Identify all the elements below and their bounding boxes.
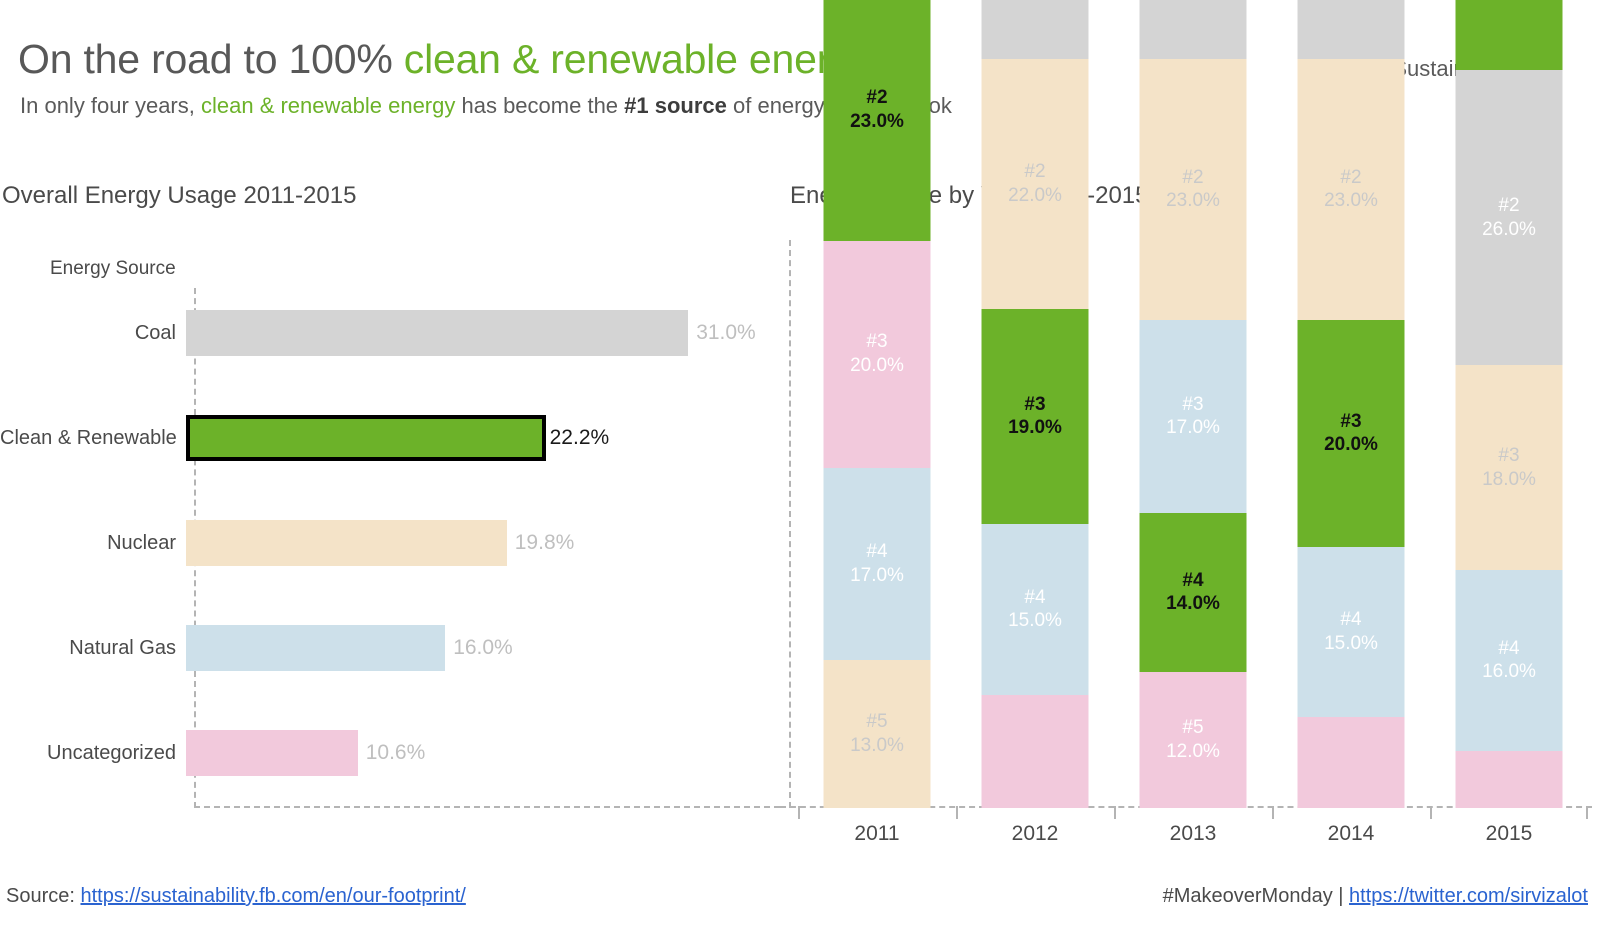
x-axis-tick xyxy=(798,806,800,819)
x-axis-tick xyxy=(1430,806,1432,819)
segment-rank-label: #2 xyxy=(1498,194,1519,218)
x-axis-label: 2012 xyxy=(956,822,1114,846)
segment-rank-label: #2 xyxy=(866,86,887,110)
page-subtitle: In only four years, clean & renewable en… xyxy=(20,93,952,119)
stack-segment[interactable] xyxy=(1298,717,1405,808)
stack-segment[interactable]: #134.0% xyxy=(1298,0,1405,59)
segment-rank-label: #4 xyxy=(1182,569,1203,593)
segment-rank-label: #3 xyxy=(866,330,887,354)
stacked-column[interactable]: #134.0%#223.0%#320.0%#415.0%2014 xyxy=(1272,240,1430,808)
bar-value-label: 22.2% xyxy=(546,426,610,450)
right-chart-columns: #127.0%#223.0%#320.0%#417.0%#513.0%2011#… xyxy=(798,240,1588,808)
segment-value-label: 20.0% xyxy=(1324,433,1378,457)
segment-rank-label: #2 xyxy=(1182,166,1203,190)
stacked-column-bar: #127.0%#223.0%#320.0%#417.0%#513.0% xyxy=(824,0,931,808)
bar-row[interactable]: Coal31.0% xyxy=(0,310,780,356)
stacked-column[interactable]: #127.0%#223.0%#320.0%#417.0%#513.0%2011 xyxy=(798,240,956,808)
subtitle-segment-3: has become the xyxy=(455,93,624,118)
segment-rank-label: #3 xyxy=(1340,410,1361,434)
stack-segment[interactable]: #223.0% xyxy=(824,0,931,241)
bar-row[interactable]: Clean & Renewable22.2% xyxy=(0,415,780,461)
bar-category-label: Nuclear xyxy=(0,532,186,555)
stacked-column-bar: #135.0%#226.0%#318.0%#416.0% xyxy=(1456,0,1563,808)
title-text-plain: On the road to 100% xyxy=(18,36,404,82)
bar-value-label: 31.0% xyxy=(688,321,756,345)
bar-value-label: 10.6% xyxy=(358,741,426,765)
bar-value-label: 16.0% xyxy=(445,636,513,660)
stack-segment[interactable]: #226.0% xyxy=(1456,70,1563,365)
bar-fill[interactable] xyxy=(186,730,358,776)
bar-track: 16.0% xyxy=(186,625,513,671)
bar-track: 19.8% xyxy=(186,520,574,566)
segment-rank-label: #2 xyxy=(1340,166,1361,190)
overall-energy-usage-bar-chart: Energy Source Coal31.0%Clean & Renewable… xyxy=(0,240,780,815)
bar-row[interactable]: Natural Gas16.0% xyxy=(0,625,780,671)
segment-rank-label: #4 xyxy=(1498,637,1519,661)
source-url-link[interactable]: https://sustainability.fb.com/en/our-foo… xyxy=(80,885,465,907)
segment-value-label: 23.0% xyxy=(850,110,904,134)
segment-value-label: 26.0% xyxy=(1482,218,1536,242)
segment-rank-label: #3 xyxy=(1024,393,1045,417)
bar-fill[interactable] xyxy=(186,625,445,671)
segment-rank-label: #2 xyxy=(1024,160,1045,184)
author-credit: #MakeoverMonday | https://twitter.com/si… xyxy=(1163,885,1588,908)
stack-segment[interactable]: #512.0% xyxy=(1140,672,1247,808)
source-credit: Source: https://sustainability.fb.com/en… xyxy=(6,885,466,908)
stack-segment[interactable]: #223.0% xyxy=(1140,59,1247,320)
subtitle-segment-accent: clean & renewable energy xyxy=(201,93,455,118)
stack-segment[interactable]: #417.0% xyxy=(824,468,931,661)
bar-value-label: 19.8% xyxy=(507,531,575,555)
bar-track: 22.2% xyxy=(186,415,609,461)
bar-category-label: Uncategorized xyxy=(0,742,186,765)
stacked-column[interactable]: #134.0%#223.0%#317.0%#414.0%#512.0%2013 xyxy=(1114,240,1272,808)
bar-fill[interactable] xyxy=(186,310,688,356)
segment-value-label: 13.0% xyxy=(850,734,904,758)
segment-value-label: 22.0% xyxy=(1008,184,1062,208)
subtitle-segment-1: In only four years, xyxy=(20,93,201,118)
bar-fill[interactable] xyxy=(186,415,546,461)
stack-segment[interactable]: #223.0% xyxy=(1298,59,1405,320)
left-chart-title: Overall Energy Usage 2011-2015 xyxy=(2,182,356,210)
stack-segment[interactable] xyxy=(982,695,1089,809)
x-axis-tick xyxy=(1272,806,1274,819)
page-title: On the road to 100% clean & renewable en… xyxy=(18,36,873,83)
segment-rank-label: #4 xyxy=(866,540,887,564)
stacked-column[interactable]: #135.0%#226.0%#318.0%#416.0%2015 xyxy=(1430,240,1588,808)
bar-category-label: Coal xyxy=(0,322,186,345)
energy-usage-by-year-stacked-chart: #127.0%#223.0%#320.0%#417.0%#513.0%2011#… xyxy=(780,240,1600,840)
stack-segment[interactable]: #318.0% xyxy=(1456,365,1563,569)
segment-rank-label: #5 xyxy=(866,710,887,734)
bar-category-label: Natural Gas xyxy=(0,637,186,660)
x-axis-tick xyxy=(956,806,958,819)
stack-segment[interactable]: #222.0% xyxy=(982,59,1089,309)
segment-value-label: 12.0% xyxy=(1166,740,1220,764)
bar-track: 31.0% xyxy=(186,310,756,356)
segment-rank-label: #3 xyxy=(1498,444,1519,468)
bar-row[interactable]: Nuclear19.8% xyxy=(0,520,780,566)
segment-value-label: 16.0% xyxy=(1482,660,1536,684)
segment-value-label: 18.0% xyxy=(1482,468,1536,492)
source-prefix-label: Source: xyxy=(6,885,80,907)
subtitle-segment-bold: #1 source xyxy=(624,93,727,118)
segment-value-label: 17.0% xyxy=(1166,416,1220,440)
segment-rank-label: #5 xyxy=(1182,716,1203,740)
stack-segment[interactable]: #134.0% xyxy=(1140,0,1247,59)
stack-segment[interactable]: #320.0% xyxy=(824,241,931,468)
stack-segment[interactable]: #415.0% xyxy=(1298,547,1405,717)
stack-segment[interactable]: #415.0% xyxy=(982,524,1089,694)
segment-value-label: 23.0% xyxy=(1166,189,1220,213)
stack-segment[interactable]: #317.0% xyxy=(1140,320,1247,513)
stack-segment[interactable]: #320.0% xyxy=(1298,320,1405,547)
stack-segment[interactable]: #135.0% xyxy=(1456,0,1563,70)
stack-segment[interactable]: #319.0% xyxy=(982,309,1089,525)
segment-rank-label: #4 xyxy=(1340,608,1361,632)
stacked-column-bar: #134.0%#222.0%#319.0%#415.0% xyxy=(982,0,1089,808)
segment-value-label: 19.0% xyxy=(1008,416,1062,440)
bar-row[interactable]: Uncategorized10.6% xyxy=(0,730,780,776)
stacked-column[interactable]: #134.0%#222.0%#319.0%#415.0%2012 xyxy=(956,240,1114,808)
hashtag-label: #MakeoverMonday | xyxy=(1163,885,1349,907)
segment-value-label: 15.0% xyxy=(1008,609,1062,633)
segment-value-label: 14.0% xyxy=(1166,592,1220,616)
stack-segment[interactable] xyxy=(1456,751,1563,808)
bar-fill[interactable] xyxy=(186,520,507,566)
segment-value-label: 15.0% xyxy=(1324,632,1378,656)
stack-segment[interactable]: #416.0% xyxy=(1456,570,1563,752)
stack-segment[interactable]: #414.0% xyxy=(1140,513,1247,672)
right-chart-y-axis xyxy=(789,240,791,808)
left-axis-title: Energy Source xyxy=(50,258,176,280)
bar-category-label: Clean & Renewable xyxy=(0,427,186,450)
stacked-column-bar: #134.0%#223.0%#320.0%#415.0% xyxy=(1298,0,1405,808)
x-axis-tick xyxy=(1114,806,1116,819)
x-axis-label: 2014 xyxy=(1272,822,1430,846)
segment-rank-label: #4 xyxy=(1024,586,1045,610)
footer: Source: https://sustainability.fb.com/en… xyxy=(0,885,1600,930)
left-chart-baseline xyxy=(194,806,780,808)
x-axis-label: 2013 xyxy=(1114,822,1272,846)
segment-rank-label: #3 xyxy=(1182,393,1203,417)
x-axis-label: 2015 xyxy=(1430,822,1588,846)
stack-segment[interactable]: #134.0% xyxy=(982,0,1089,59)
segment-value-label: 20.0% xyxy=(850,354,904,378)
twitter-url-link[interactable]: https://twitter.com/sirvizalot xyxy=(1349,885,1588,907)
x-axis-label: 2011 xyxy=(798,822,956,846)
segment-value-label: 23.0% xyxy=(1324,189,1378,213)
bar-track: 10.6% xyxy=(186,730,425,776)
stack-segment[interactable]: #513.0% xyxy=(824,660,931,808)
x-axis-tick-end xyxy=(1586,806,1588,819)
segment-value-label: 17.0% xyxy=(850,564,904,588)
title-text-accent: clean & renewable energy xyxy=(404,36,873,82)
stacked-column-bar: #134.0%#223.0%#317.0%#414.0%#512.0% xyxy=(1140,0,1247,808)
